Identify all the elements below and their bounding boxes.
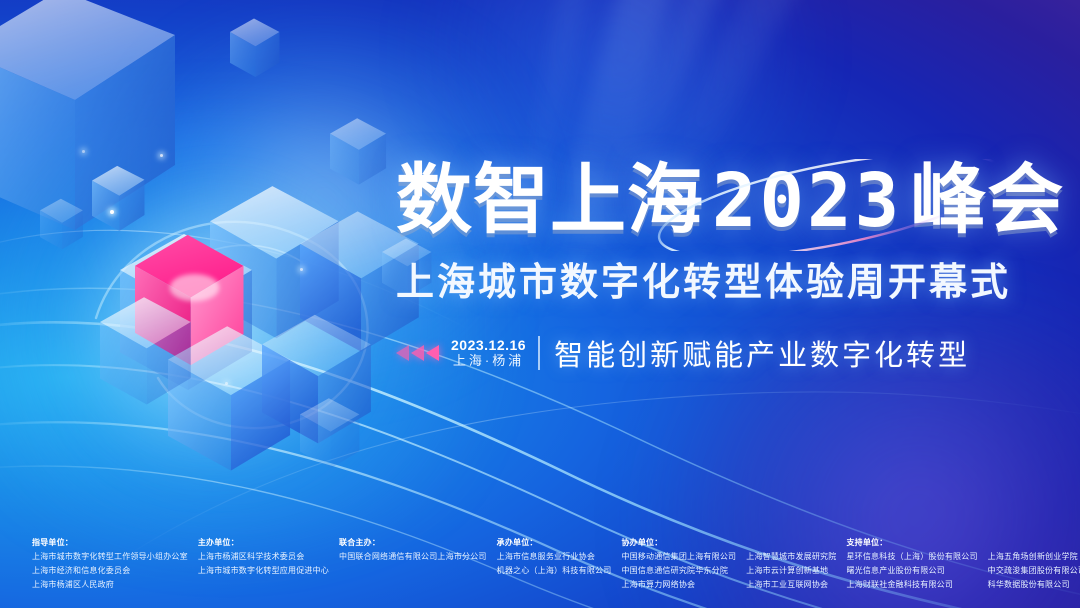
sponsor-item: 上海市城市数字化转型应用促进中心	[198, 564, 329, 578]
sponsor-item: 上海市信息服务业行业协会	[497, 550, 612, 564]
sponsor-heading: 联合主办：	[339, 536, 487, 550]
sponsor-column: 指导单位： 上海市城市数字化转型工作领导小组办公室 上海市经济和信息化委员会 上…	[32, 536, 198, 592]
sponsor-item: 科华数据股份有限公司	[988, 578, 1080, 592]
sponsor-heading: 指导单位：	[32, 536, 188, 550]
event-date: 2023.12.16	[451, 337, 526, 353]
sponsor-item: 星环信息科技（上海）股份有限公司	[846, 550, 977, 564]
sparkle-dot	[225, 382, 228, 385]
sponsor-item: 上海市经济和信息化委员会	[32, 564, 188, 578]
sponsor-item: 上海市城市数字化转型工作领导小组办公室	[32, 550, 188, 564]
sponsor-footer: 指导单位： 上海市城市数字化转型工作领导小组办公室 上海市经济和信息化委员会 上…	[0, 536, 1080, 592]
main-title: 数智上海 2023 峰会	[396, 155, 1036, 247]
sponsor-column: 联合主办： 中国联合网络通信有限公司上海市分公司	[339, 536, 497, 564]
title-block: 数智上海 2023 峰会	[396, 155, 1036, 374]
sponsor-item: 中国联合网络通信有限公司上海市分公司	[339, 550, 487, 564]
sponsor-item: 中国移动通信集团上海有限公司	[621, 550, 736, 564]
sponsor-item: 上海市杨浦区科学技术委员会	[198, 550, 329, 564]
sponsor-item: 曙光信息产业股份有限公司	[846, 564, 977, 578]
sponsor-item: 上海市云计算创新基地	[746, 564, 836, 578]
title-year: 2023	[712, 164, 902, 238]
sponsor-item: 中国信息通信研究院华东分院	[621, 564, 736, 578]
sponsor-column: 支持单位： 星环信息科技（上海）股份有限公司 曙光信息产业股份有限公司 上海财联…	[846, 536, 987, 592]
subtitle: 上海城市数字化转型体验周开幕式	[396, 251, 1036, 306]
date-location-block: 2023.12.16 上海·杨浦	[451, 337, 526, 368]
sponsor-item: 上海财联社金融科技有限公司	[846, 578, 977, 592]
event-slogan: 智能创新赋能产业数字化转型	[554, 332, 970, 374]
sponsor-item: 上海市算力网络协会	[621, 578, 736, 592]
sponsor-column: 上海五角场创新创业学院 中交疏浚集团股份有限公司 科华数据股份有限公司	[988, 536, 1080, 592]
sponsor-column: 承办单位： 上海市信息服务业行业协会 机器之心（上海）科技有限公司	[497, 536, 622, 578]
tagline-row: 2023.12.16 上海·杨浦 智能创新赋能产业数字化转型	[396, 332, 1036, 374]
sponsor-heading: 协办单位：	[621, 536, 736, 550]
title-text-left: 数智上海	[396, 163, 704, 239]
vertical-divider	[538, 336, 540, 370]
sponsor-column: 主办单位： 上海市杨浦区科学技术委员会 上海市城市数字化转型应用促进中心	[198, 536, 339, 578]
sponsor-heading: 承办单位：	[497, 536, 612, 550]
triple-left-arrow-icon	[396, 345, 439, 361]
sponsor-item: 上海五角场创新创业学院	[988, 550, 1080, 564]
sparkle-dot	[82, 150, 85, 153]
sponsor-item: 上海市工业互联网协会	[746, 578, 836, 592]
sponsor-item: 上海市杨浦区人民政府	[32, 578, 188, 592]
sponsor-item: 机器之心（上海）科技有限公司	[497, 564, 612, 578]
sponsor-heading: 支持单位：	[846, 536, 977, 550]
sponsor-column: 协办单位： 中国移动通信集团上海有限公司 中国信息通信研究院华东分院 上海市算力…	[621, 536, 746, 592]
sponsor-column: 上海智慧城市发展研究院 上海市云计算创新基地 上海市工业互联网协会	[746, 536, 846, 592]
sponsor-item: 上海智慧城市发展研究院	[746, 550, 836, 564]
sparkle-dot	[110, 210, 114, 214]
sparkle-dot	[160, 154, 163, 157]
event-location: 上海·杨浦	[453, 354, 524, 369]
sparkle-dot	[300, 268, 303, 271]
sponsor-heading: 主办单位：	[198, 536, 329, 550]
sponsor-item: 中交疏浚集团股份有限公司	[988, 564, 1080, 578]
event-poster: 数智上海 2023 峰会	[0, 0, 1080, 608]
title-text-right: 峰会	[910, 163, 1064, 239]
